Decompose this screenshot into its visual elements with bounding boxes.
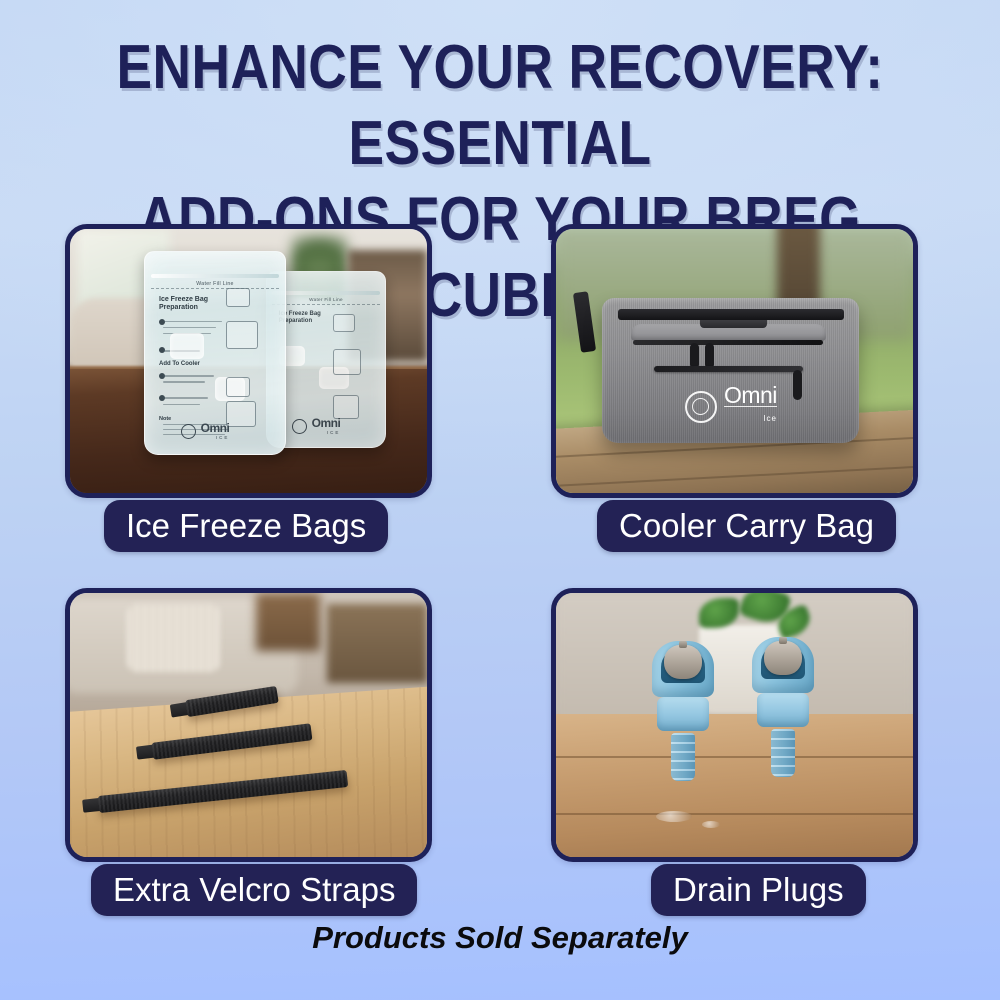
product-card-frame: Water Fill Line Ice Freeze Bag Preparati… <box>65 224 432 498</box>
product-card-cooler-carry-bag[interactable]: OmniIce Cooler Carry Bag <box>551 224 918 498</box>
product-label-cooler-carry-bag: Cooler Carry Bag <box>597 500 896 552</box>
drain-plug-left <box>652 641 714 781</box>
disclaimer-text: Products Sold Separately <box>0 920 1000 956</box>
promo-poster: Enhance Your Recovery: Essential Add-Ons… <box>0 0 1000 1000</box>
product-label-extra-velcro-straps: Extra Velcro Straps <box>91 864 417 916</box>
product-card-drain-plugs[interactable]: Drain Plugs <box>551 588 918 862</box>
brand-sub: Ice <box>724 406 777 429</box>
product-photo-ice-freeze-bags: Water Fill Line Ice Freeze Bag Preparati… <box>70 229 427 493</box>
product-photo-cooler-carry-bag: OmniIce <box>556 229 913 493</box>
headline-line-1: Enhance Your Recovery: Essential <box>117 33 884 178</box>
product-card-frame: OmniIce <box>551 224 918 498</box>
product-photo-drain-plugs <box>556 593 913 857</box>
product-card-frame <box>551 588 918 862</box>
product-photo-extra-velcro-straps <box>70 593 427 857</box>
product-card-extra-velcro-straps[interactable]: Extra Velcro Straps <box>65 588 432 862</box>
snowflake-icon <box>685 391 717 423</box>
drain-plug-right <box>752 637 814 777</box>
cooler-bag-body: OmniIce <box>602 298 859 443</box>
product-label-ice-freeze-bags: Ice Freeze Bags <box>104 500 388 552</box>
product-label-drain-plugs: Drain Plugs <box>651 864 866 916</box>
product-card-ice-freeze-bags[interactable]: Water Fill Line Ice Freeze Bag Preparati… <box>65 224 432 498</box>
omni-ice-logo: OmniIce <box>685 385 777 429</box>
brand-name: OmniIce <box>724 385 777 429</box>
product-card-frame <box>65 588 432 862</box>
ice-freeze-bag-front: Water Fill Line Ice Freeze Bag Preparati… <box>144 251 286 455</box>
